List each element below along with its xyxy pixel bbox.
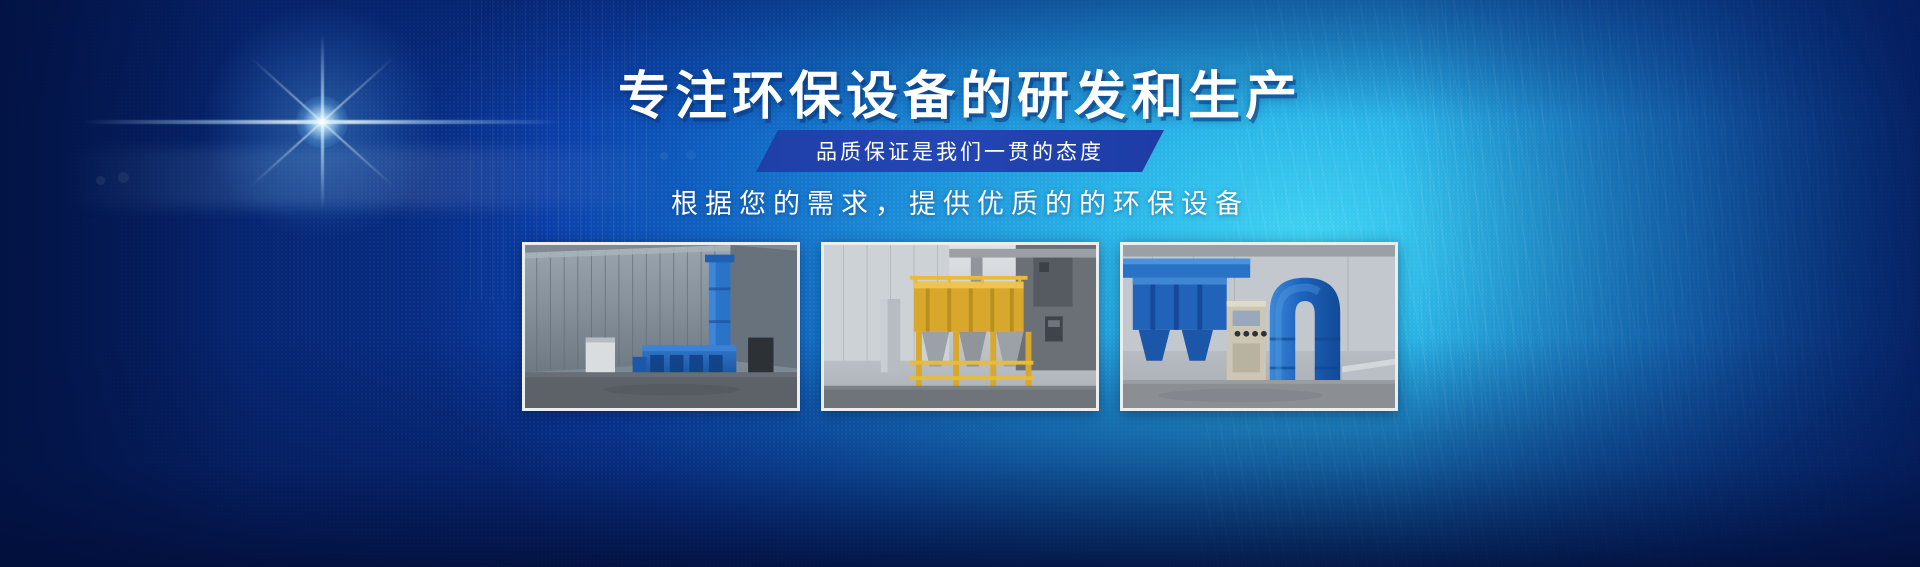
promo-banner: 专注环保设备的研发和生产 品质保证是我们一贯的态度 根据您的需求，提供优质的的环… [0, 0, 1920, 567]
banner-content: 专注环保设备的研发和生产 品质保证是我们一贯的态度 根据您的需求，提供优质的的环… [0, 0, 1920, 567]
badge-container: 品质保证是我们一贯的态度 [0, 130, 1920, 172]
photo-3-artwork [1123, 245, 1395, 408]
photo-2-artwork [824, 245, 1096, 408]
quality-badge: 品质保证是我们一贯的态度 [756, 130, 1164, 172]
photo-blue-cyclone-ducting-system[interactable] [1120, 242, 1398, 411]
banner-headline: 专注环保设备的研发和生产 [0, 54, 1920, 129]
photo-strip [0, 242, 1920, 411]
banner-tagline: 根据您的需求，提供优质的的环保设备 [0, 182, 1920, 221]
photo-1-artwork [525, 245, 797, 408]
photo-workshop-exterior-dust-collector[interactable] [522, 242, 800, 411]
photo-indoor-dust-collection-platform[interactable] [821, 242, 1099, 411]
